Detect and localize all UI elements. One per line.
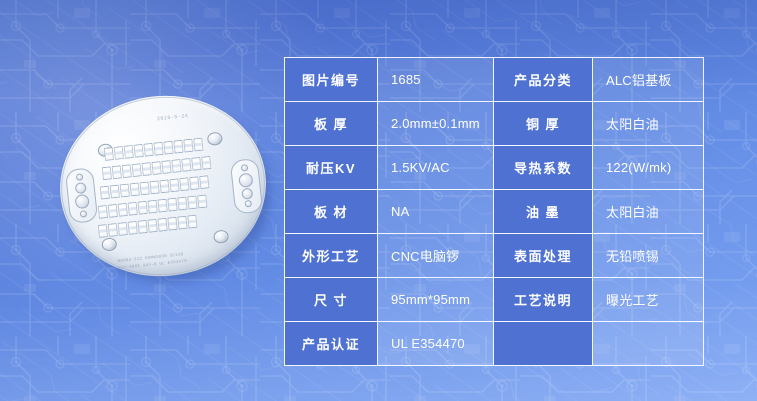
connector-hole — [241, 188, 253, 200]
table-row: 图片编号 1685 产品分类 ALC铝基板 — [285, 58, 704, 102]
spec-value: UL E354470 — [378, 322, 494, 366]
connector-hole — [80, 210, 88, 218]
spec-value: 1.5KV/AC — [378, 146, 494, 190]
led-pad-grid — [96, 135, 233, 240]
connector-hole — [75, 182, 87, 194]
connector-hole — [238, 173, 253, 188]
spec-value: 无铅喷锡 — [593, 234, 704, 278]
connector-hole — [244, 200, 252, 208]
spec-value: 122(W/mk) — [593, 146, 704, 190]
spec-label: 图片编号 — [285, 58, 378, 102]
spec-value: ALC铝基板 — [593, 58, 704, 102]
spec-value: 2.0mm±0.1mm — [378, 102, 494, 146]
table-row: 板 厚 2.0mm±0.1mm 铜 厚 太阳白油 — [285, 102, 704, 146]
spec-label-empty — [494, 322, 593, 366]
spec-label: 铜 厚 — [494, 102, 593, 146]
product-spec-table: 图片编号 1685 产品分类 ALC铝基板 板 厚 2.0mm±0.1mm 铜 … — [284, 57, 704, 366]
spec-label: 板 厚 — [285, 102, 378, 146]
spec-value: 太阳白油 — [593, 102, 704, 146]
spec-value: 1685 — [378, 58, 494, 102]
table-row: 外形工艺 CNC电脑锣 表面处理 无铅喷锡 — [285, 234, 704, 278]
spec-label: 板 材 — [285, 190, 378, 234]
spec-label: 尺 寸 — [285, 278, 378, 322]
connector-hole — [74, 194, 89, 209]
spec-label: 外形工艺 — [285, 234, 378, 278]
spec-value: NA — [378, 190, 494, 234]
spec-table-body: 图片编号 1685 产品分类 ALC铝基板 板 厚 2.0mm±0.1mm 铜 … — [285, 58, 704, 366]
connector-hole — [241, 164, 249, 172]
spec-label: 导热系数 — [494, 146, 593, 190]
spec-label: 表面处理 — [494, 234, 593, 278]
spec-label: 产品认证 — [285, 322, 378, 366]
spec-value: 95mm*95mm — [378, 278, 494, 322]
aluminum-pcb-board: 2019-5-24 — [51, 86, 275, 287]
spec-label: 产品分类 — [494, 58, 593, 102]
spec-value: 曝光工艺 — [593, 278, 704, 322]
table-row: 耐压KV 1.5KV/AC 导热系数 122(W/mk) — [285, 146, 704, 190]
table-row: 板 材 NA 油 墨 太阳白油 — [285, 190, 704, 234]
spec-label: 工艺说明 — [494, 278, 593, 322]
product-spec-banner: 2019-5-24 — [0, 0, 757, 401]
spec-value: 太阳白油 — [593, 190, 704, 234]
spec-value: CNC电脑锣 — [378, 234, 494, 278]
table-row: 尺 寸 95mm*95mm 工艺说明 曝光工艺 — [285, 278, 704, 322]
connector-hole — [76, 173, 84, 181]
table-row: 产品认证 UL E354470 — [285, 322, 704, 366]
spec-value-empty — [593, 322, 704, 366]
spec-label: 耐压KV — [285, 146, 378, 190]
spec-label: 油 墨 — [494, 190, 593, 234]
product-image: 2019-5-24 — [60, 96, 270, 282]
